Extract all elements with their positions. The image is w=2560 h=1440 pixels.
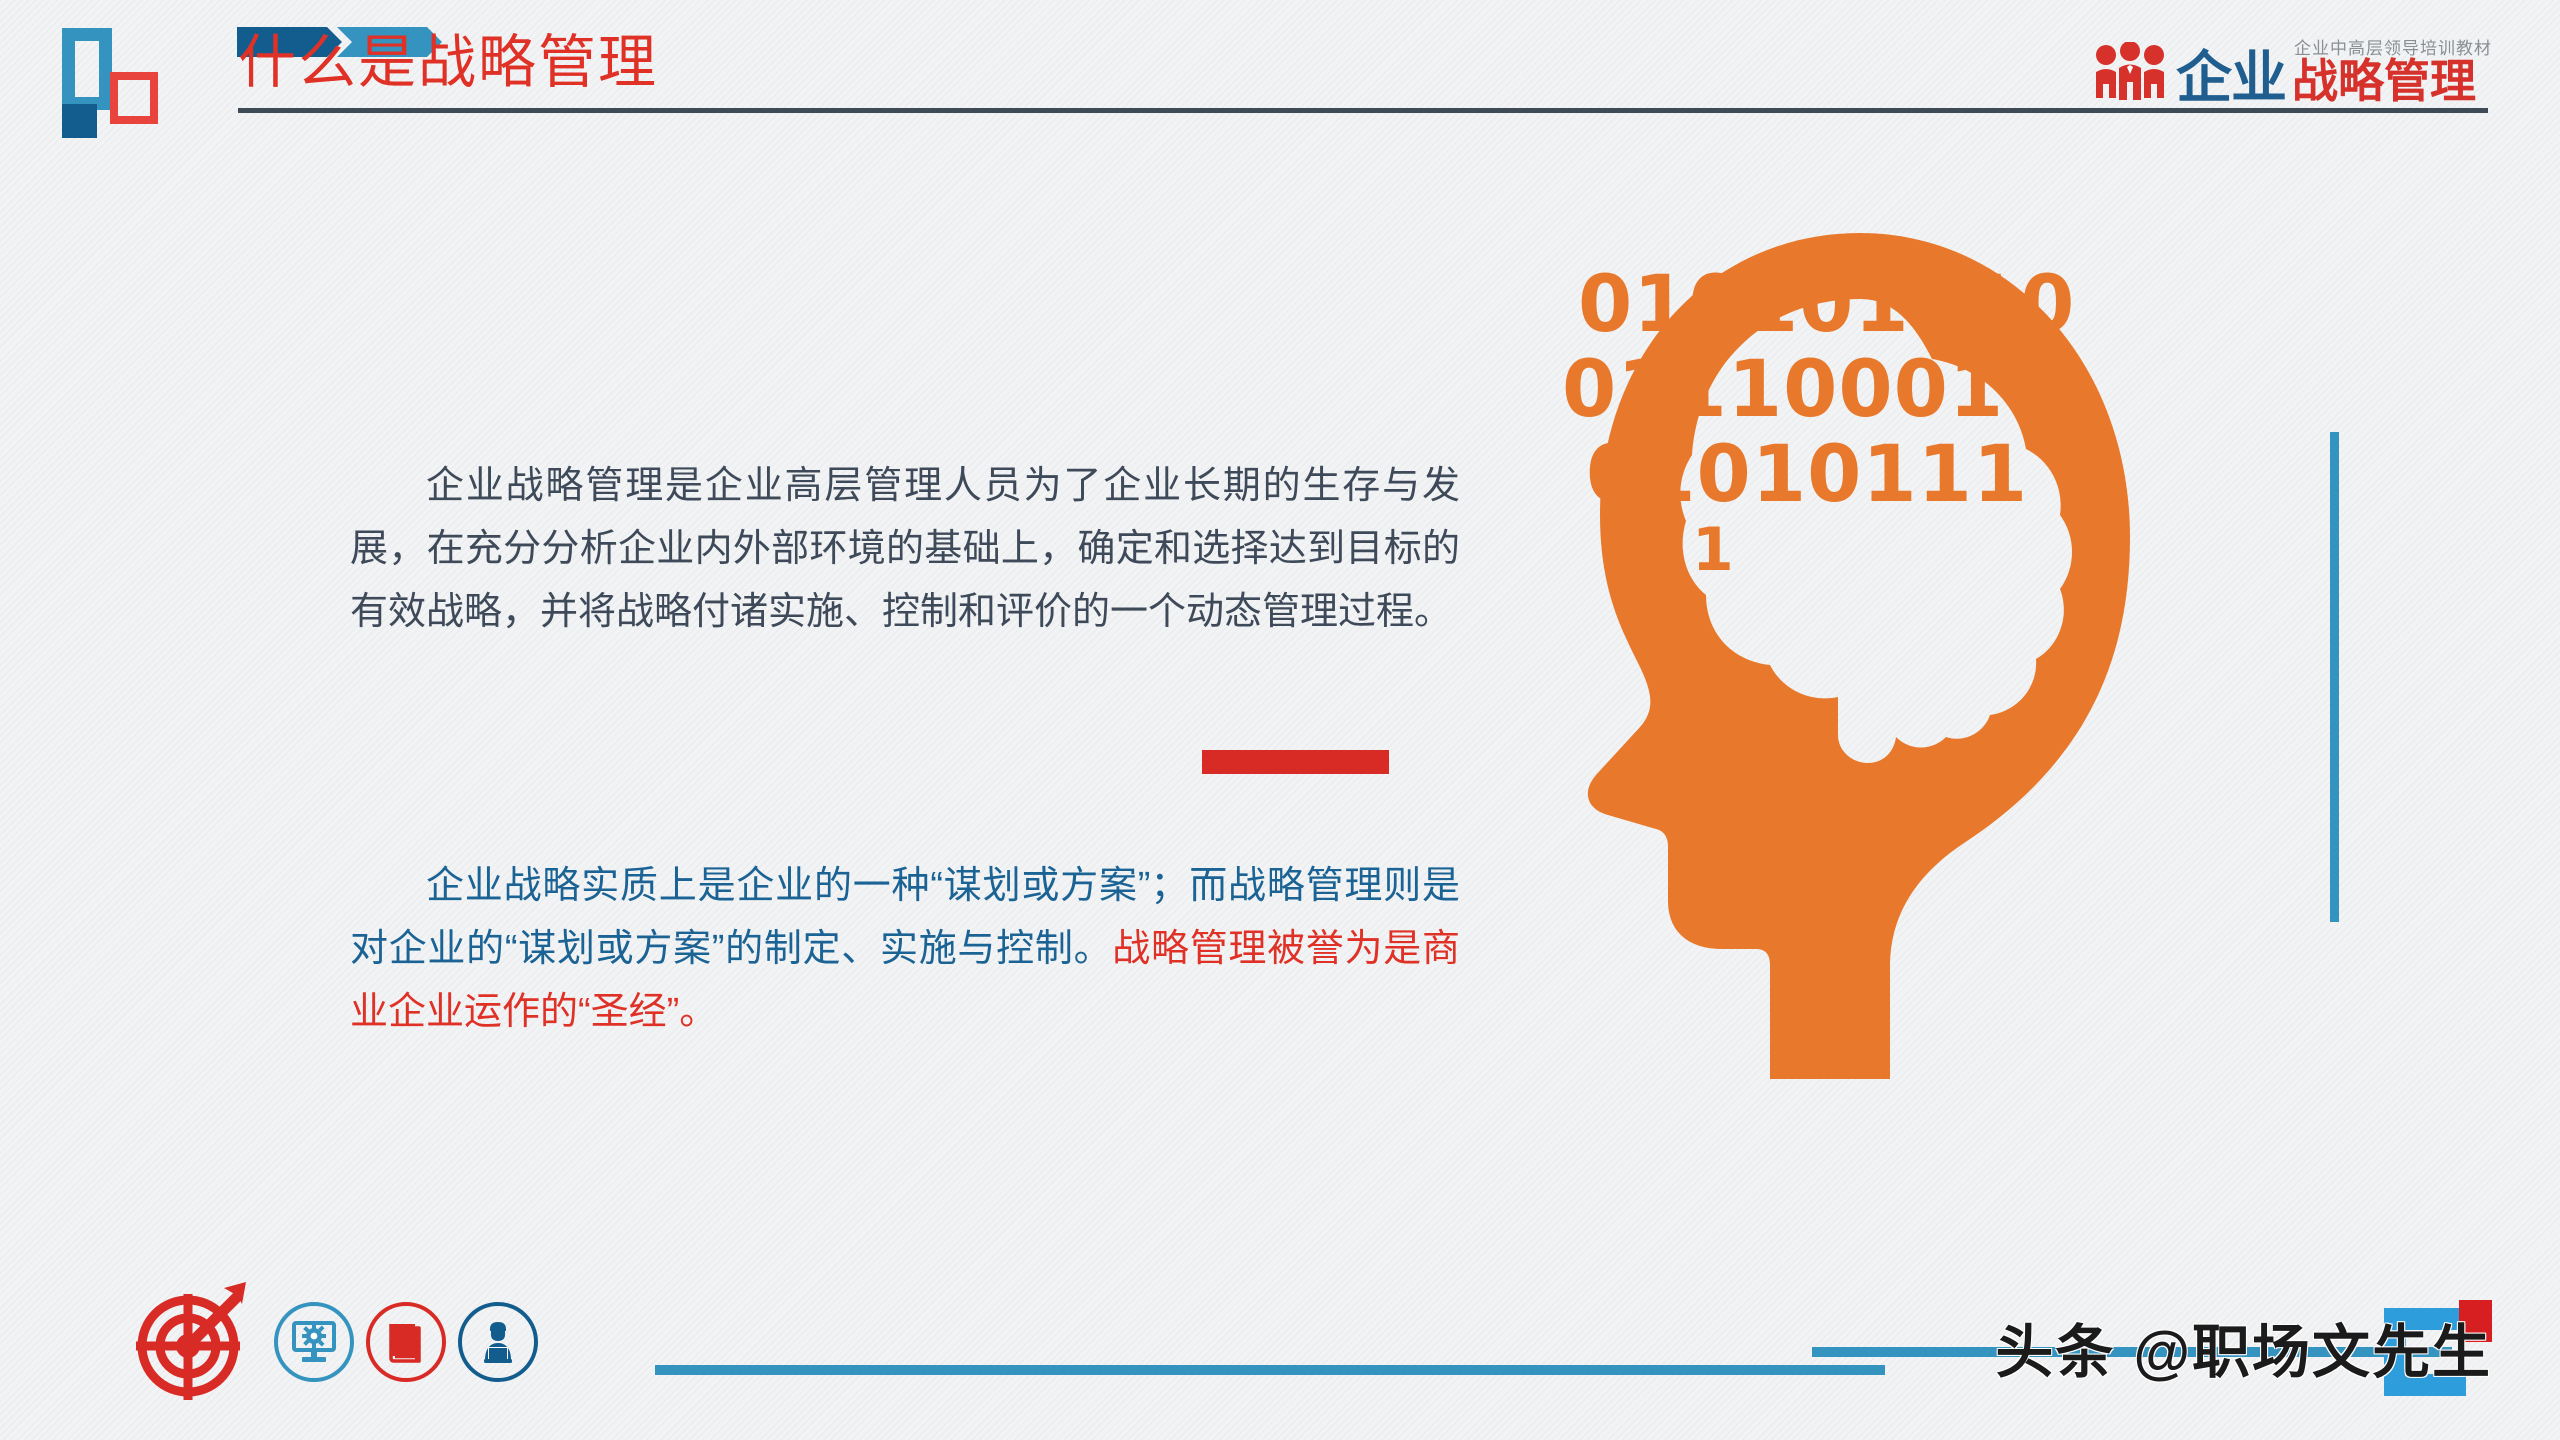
orange-head-silhouette-icon: 010101010 011100010 01010111 1	[1560, 215, 2240, 1095]
head-shape	[1560, 215, 2240, 1095]
book-icon[interactable]	[366, 1302, 446, 1382]
monitor-gear-icon[interactable]	[274, 1302, 354, 1382]
body-paragraph-primary: 企业战略管理是企业高层管理人员为了企业长期的生存与发展，在充分分析企业内外部环境…	[350, 455, 1460, 644]
watermark-text: 头条 @职场文先生	[1995, 1305, 2492, 1389]
person-laptop-icon[interactable]	[458, 1302, 538, 1382]
body-paragraph-secondary: 企业战略实质上是企业的一种“谋划或方案”；而战略管理则是对企业的“谋划或方案”的…	[350, 855, 1460, 1044]
watermark: 头条 @职场文先生	[1995, 1292, 2492, 1402]
footer-icon-row	[128, 1278, 550, 1406]
right-vertical-accent	[2330, 432, 2339, 922]
three-people-icon	[2094, 42, 2166, 100]
target-arrow-icon[interactable]	[128, 1278, 256, 1406]
header-rule	[238, 108, 2488, 113]
brand-name-blue: 企业	[2176, 51, 2286, 104]
brand-name-red: 战略管理	[2292, 60, 2476, 104]
teal-square-outline	[62, 28, 112, 110]
nested-squares-logo	[62, 28, 172, 136]
footer-accent-line	[655, 1365, 1885, 1375]
red-square-outline	[110, 72, 158, 124]
slide-canvas: 什么是战略管理 企业 企业中高层领导培训教材 战略管理 企业战略管理是企业高层管…	[0, 0, 2560, 1440]
brand-logo: 企业 企业中高层领导培训教材 战略管理	[2094, 26, 2492, 104]
navy-square-solid	[62, 104, 97, 138]
red-divider-bar	[1202, 750, 1389, 774]
page-title: 什么是战略管理	[238, 34, 658, 92]
